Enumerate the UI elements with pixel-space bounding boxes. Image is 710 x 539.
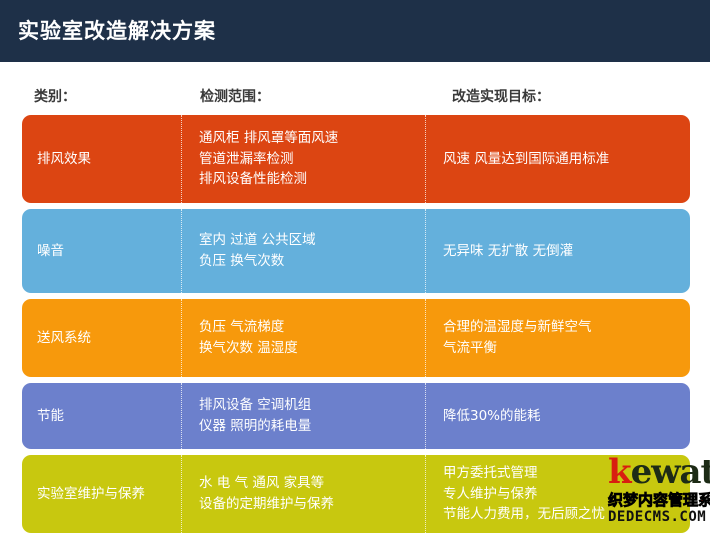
table-row: 排风效果通风柜 排风罩等面风速管道泄漏率检测排风设备性能检测风速 风量达到国际通… <box>22 115 690 203</box>
goal-line: 专人维护与保养 <box>443 484 690 505</box>
category-label: 实验室维护与保养 <box>37 484 181 505</box>
table-row: 噪音室内 过道 公共区域负压 换气次数无异味 无扩散 无倒灌 <box>22 209 690 293</box>
scope-line: 仪器 照明的耗电量 <box>199 416 425 437</box>
table-row: 节能排风设备 空调机组仪器 照明的耗电量降低30%的能耗 <box>22 383 690 449</box>
cell-goal: 无异味 无扩散 无倒灌 <box>425 209 690 293</box>
column-header-goal: 改造实现目标： <box>452 86 550 106</box>
cell-category: 排风效果 <box>22 115 181 203</box>
cell-scope: 排风设备 空调机组仪器 照明的耗电量 <box>181 383 425 449</box>
page-title: 实验室改造解决方案 <box>18 15 216 45</box>
scope-line: 管道泄漏率检测 <box>199 149 425 170</box>
column-header-row: 类别： 检测范围： 改造实现目标： <box>0 86 710 112</box>
cell-goal: 风速 风量达到国际通用标准 <box>425 115 690 203</box>
cell-category: 噪音 <box>22 209 181 293</box>
scope-line: 排风设备 空调机组 <box>199 395 425 416</box>
table-row: 送风系统负压 气流梯度换气次数 温湿度合理的温湿度与新鲜空气气流平衡 <box>22 299 690 377</box>
goal-line: 无异味 无扩散 无倒灌 <box>443 241 690 262</box>
scope-line: 换气次数 温湿度 <box>199 338 425 359</box>
cell-scope: 水 电 气 通风 家具等设备的定期维护与保养 <box>181 455 425 533</box>
table-row: 实验室维护与保养水 电 气 通风 家具等设备的定期维护与保养甲方委托式管理专人维… <box>22 455 690 533</box>
goal-line: 降低30%的能耗 <box>443 406 690 427</box>
scope-line: 负压 换气次数 <box>199 251 425 272</box>
cell-category: 节能 <box>22 383 181 449</box>
cell-goal: 甲方委托式管理专人维护与保养节能人力费用，无后顾之忧 <box>425 455 690 533</box>
goal-line: 合理的温湿度与新鲜空气 <box>443 317 690 338</box>
cell-category: 送风系统 <box>22 299 181 377</box>
solution-table: 排风效果通风柜 排风罩等面风速管道泄漏率检测排风设备性能检测风速 风量达到国际通… <box>22 115 690 539</box>
scope-line: 排风设备性能检测 <box>199 169 425 190</box>
scope-line: 水 电 气 通风 家具等 <box>199 473 425 494</box>
column-header-category: 类别： <box>34 86 76 106</box>
goal-line: 节能人力费用，无后顾之忧 <box>443 504 690 525</box>
scope-line: 设备的定期维护与保养 <box>199 494 425 515</box>
scope-line: 室内 过道 公共区域 <box>199 230 425 251</box>
category-label: 送风系统 <box>37 328 181 349</box>
category-label: 噪音 <box>37 241 181 262</box>
goal-line: 风速 风量达到国际通用标准 <box>443 149 690 170</box>
cell-goal: 降低30%的能耗 <box>425 383 690 449</box>
cell-category: 实验室维护与保养 <box>22 455 181 533</box>
cell-scope: 负压 气流梯度换气次数 温湿度 <box>181 299 425 377</box>
title-bar: 实验室改造解决方案 <box>0 0 710 62</box>
category-label: 节能 <box>37 406 181 427</box>
goal-line: 甲方委托式管理 <box>443 463 690 484</box>
cell-scope: 室内 过道 公共区域负压 换气次数 <box>181 209 425 293</box>
scope-line: 负压 气流梯度 <box>199 317 425 338</box>
cell-scope: 通风柜 排风罩等面风速管道泄漏率检测排风设备性能检测 <box>181 115 425 203</box>
cell-goal: 合理的温湿度与新鲜空气气流平衡 <box>425 299 690 377</box>
scope-line: 通风柜 排风罩等面风速 <box>199 128 425 149</box>
category-label: 排风效果 <box>37 149 181 170</box>
column-header-scope: 检测范围： <box>200 86 270 106</box>
goal-line: 气流平衡 <box>443 338 690 359</box>
